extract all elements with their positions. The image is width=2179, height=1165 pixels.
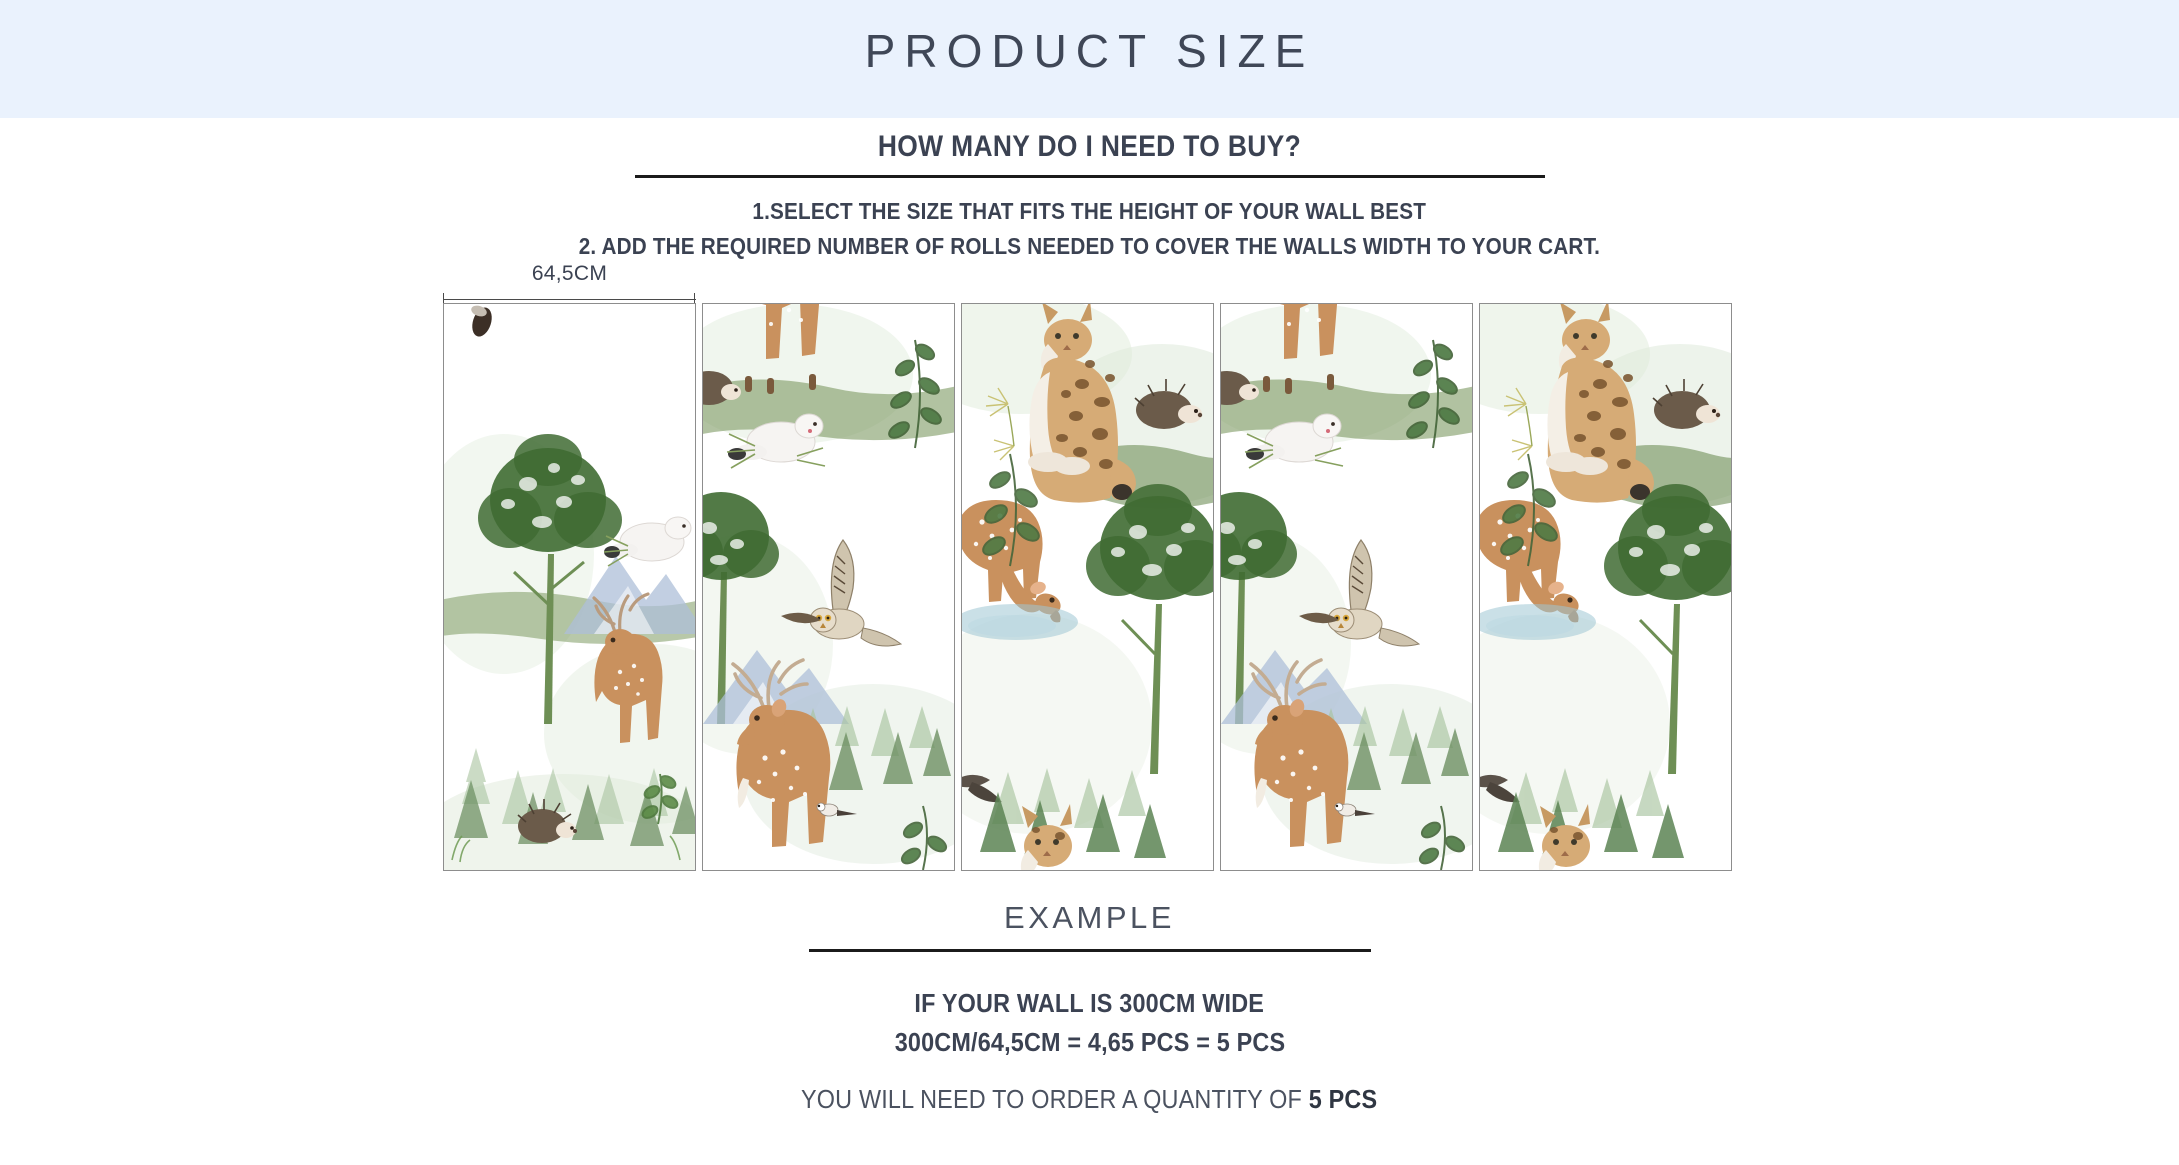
wall-width-wrap: IF YOUR WALL IS 300CM WIDE (0, 952, 2179, 1019)
how-many-heading-wrap: HOW MANY DO I NEED TO BUY? (0, 130, 2179, 164)
how-many-heading: HOW MANY DO I NEED TO BUY? (878, 130, 1301, 164)
wallpaper-panel-3[interactable] (961, 303, 1214, 871)
example-section: EXAMPLE IF YOUR WALL IS 300CM WIDE 300CM… (0, 900, 2179, 1115)
order-wrap: YOU WILL NEED TO ORDER A QUANTITY OF 5 P… (0, 1058, 2179, 1115)
order-quantity: 5 PCS (1309, 1084, 1378, 1114)
panel-artwork-5 (1480, 304, 1732, 871)
panel-artwork-2 (703, 304, 955, 871)
instructions-section: HOW MANY DO I NEED TO BUY? 1.SELECT THE … (0, 130, 2179, 260)
roll-width-dimension: 64,5CM (443, 262, 696, 302)
formula-wrap: 300CM/64,5CM = 4,65 PCS = 5 PCS (0, 1019, 2179, 1058)
wallpaper-panel-1[interactable] (443, 303, 696, 871)
step-1-wrap: 1.SELECT THE SIZE THAT FITS THE HEIGHT O… (0, 178, 2179, 225)
wallpaper-panel-5[interactable] (1479, 303, 1732, 871)
example-heading: EXAMPLE (1004, 900, 1175, 935)
wallpaper-panel-strip (443, 303, 1732, 871)
step-2-wrap: 2. ADD THE REQUIRED NUMBER OF ROLLS NEED… (0, 225, 2179, 260)
dimension-label: 64,5CM (443, 262, 696, 286)
example-wall-width: IF YOUR WALL IS 300CM WIDE (915, 988, 1265, 1019)
instruction-step-1: 1.SELECT THE SIZE THAT FITS THE HEIGHT O… (753, 198, 1427, 225)
wallpaper-panel-2[interactable] (702, 303, 955, 871)
panel-artwork-3 (962, 304, 1214, 871)
order-prefix: YOU WILL NEED TO ORDER A QUANTITY OF (801, 1084, 1309, 1114)
example-formula: 300CM/64,5CM = 4,65 PCS = 5 PCS (894, 1027, 1285, 1058)
panel-artwork-4 (1221, 304, 1473, 871)
example-order-line: YOU WILL NEED TO ORDER A QUANTITY OF 5 P… (801, 1084, 1377, 1115)
dimension-bar (443, 299, 696, 300)
panel-artwork-1 (444, 304, 696, 871)
wallpaper-panel-4[interactable] (1220, 303, 1473, 871)
page-title: PRODUCT SIZE (0, 24, 2179, 78)
example-heading-wrap: EXAMPLE (0, 900, 2179, 936)
instruction-step-2: 2. ADD THE REQUIRED NUMBER OF ROLLS NEED… (579, 233, 1600, 260)
page-header-band: PRODUCT SIZE (0, 0, 2179, 118)
